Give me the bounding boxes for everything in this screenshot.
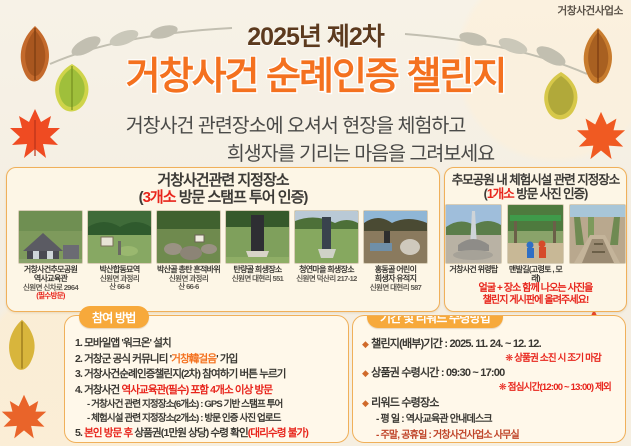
facility-panel-title: 추모공원 내 체험시설 관련 지정장소 (1개소 방문 사진 인증): [445, 168, 626, 201]
place-photo: [363, 210, 428, 264]
facility-name-text: 맨발길(고령토 , 모래): [509, 265, 562, 283]
place-name: 청연마을 희생장소 신원면 덕산리 217-12: [294, 266, 360, 283]
voucher-pickup-time-item: ◆상품권 수령시간 : 09:30 ~ 17:00: [362, 366, 619, 381]
facility-card[interactable]: [568, 204, 628, 284]
place-name: 박산합동묘역 신원면 과정리 산 66-8: [87, 266, 153, 292]
step-4-sub-1: - 거창사건 관련 지정장소(6개소) : GPS 기반 스탬프 투어: [75, 398, 342, 412]
place-name-text: 박산합동묘역: [100, 265, 140, 274]
period-and-reward-pill: 기간 및 리워드 수령방법: [367, 315, 503, 328]
voucher-pickup-time-note: ❋ 점심시간(12:00 ~ 13:00) 제외: [362, 382, 619, 395]
voucher-pickup-time-value: 09:30 ~ 17:00: [446, 367, 504, 379]
poster-root: 거창사건사업소 2025년 제2차 거창사건 순례인증 챌린지 거창사건 관련장…: [0, 0, 631, 446]
step-5-highlight-1: 본인 방문 후: [84, 427, 132, 439]
how-to-participate-box: 참여 방법 1. 모바일앱 '워크온' 설치 2. 거창군 공식 커뮤니티 '거…: [64, 315, 349, 443]
step-1: 1. 모바일앱 '워크온' 설치: [75, 336, 342, 352]
step-2-post: ' 가입: [216, 353, 237, 365]
designated-places-title-line1: 거창사건관련 지정장소: [157, 172, 288, 189]
facility-count: 1개소: [487, 187, 514, 201]
step-4-pre: 4. 거창사건: [75, 384, 121, 396]
place-photo: [156, 210, 221, 264]
diamond-bullet-icon: ◆: [362, 398, 368, 408]
how-to-participate-pill: 참여 방법: [79, 306, 149, 328]
facility-name: 맨발길(고령토 , 모래): [506, 266, 566, 284]
place-name-text: 거창사건추모공원 역사교육관: [24, 265, 77, 283]
facility-photo: [507, 204, 564, 264]
reward-location-label: 리워드 수령장소: [371, 397, 439, 409]
facility-name-text: 거창사건 위령탑: [449, 265, 497, 274]
community-name: 거창韓걸음: [171, 353, 216, 365]
step-3: 3. 거창사건순례인증챌린지(2차) 참여하기 버튼 누르기: [75, 367, 342, 383]
place-name-text: 탄량골 희생장소: [233, 265, 281, 274]
step-5-highlight-2: (대리수령 불가): [248, 427, 308, 439]
subtitle-line-1: 거창사건 관련장소에 오셔서 현장을 체험하고: [0, 109, 631, 138]
place-photo: [225, 210, 290, 264]
step-5-pre: 5.: [75, 427, 84, 439]
place-address: 신원면 대현리 551: [225, 275, 291, 283]
challenge-period-label: 챌린지(배부)기간 :: [371, 338, 449, 350]
reward-location-weekday: - 평 일 : 역사교육관 안내데스크: [362, 413, 619, 427]
subtitle-line-2: 희생자를 기리는 마음을 그려보세요: [0, 137, 631, 166]
place-address: 신원면 과정리 산 66-8: [87, 275, 153, 292]
step-4-sub-2: - 체험시설 관련 지정장소(2개소) : 방문 인증 사진 업로드: [75, 412, 342, 426]
facility-title-line2: (1개소 방문 사진 인증): [445, 187, 626, 201]
photo-upload-note-line1: 얼굴 + 장소 함께 나오는 사진을: [445, 283, 626, 295]
facility-photo: [445, 204, 502, 264]
place-card[interactable]: 거창사건추모공원 역사교육관 신원면 신차로 2964 (필수방문): [18, 210, 84, 301]
diamond-bullet-icon: ◆: [362, 368, 368, 378]
place-photo: [87, 210, 152, 264]
diamond-bullet-icon: ◆: [362, 339, 368, 349]
facility-photo: [569, 204, 626, 264]
designated-places-count: 3개소: [143, 189, 176, 206]
reward-location-weekend: - 주말, 공휴일 : 거창사건사업소 사무실: [362, 429, 619, 443]
facility-title-line1: 추모공원 내 체험시설 관련 지정장소: [452, 173, 619, 187]
designated-places-thumbnails: 거창사건추모공원 역사교육관 신원면 신차로 2964 (필수방문): [7, 210, 439, 301]
place-name-text: 홍동골 어린이 희생자 유적지: [375, 265, 416, 283]
place-photo: [18, 210, 83, 264]
facility-thumbnails: 거창사건 위령탑: [445, 204, 626, 284]
place-name: 탄량골 희생장소 신원면 대현리 551: [225, 266, 291, 283]
memorial-park-facility-panel: 추모공원 내 체험시설 관련 지정장소 (1개소 방문 사진 인증): [444, 167, 627, 312]
place-card[interactable]: 박산합동묘역 신원면 과정리 산 66-8: [87, 210, 153, 301]
place-card[interactable]: 박산골 총탄 흔적바위 신원면 과정리 산 66-6: [156, 210, 222, 301]
place-name: 홍동골 어린이 희생자 유적지 신원면 대현리 587: [363, 266, 429, 292]
place-card[interactable]: 홍동골 어린이 희생자 유적지 신원면 대현리 587: [363, 210, 429, 301]
how-to-participate-steps: 1. 모바일앱 '워크온' 설치 2. 거창군 공식 커뮤니티 '거창韓걸음' …: [75, 336, 342, 442]
place-card[interactable]: 탄량골 희생장소 신원면 대현리 551: [225, 210, 291, 301]
page-title: 거창사건 순례인증 챌린지: [0, 45, 631, 100]
facility-card[interactable]: 거창사건 위령탑: [444, 204, 504, 284]
challenge-period-value: 2025. 11. 24. ~ 12. 12.: [449, 338, 540, 350]
photo-upload-note-line2: 챌린지 게시판에 올려주세요!: [445, 295, 626, 307]
period-and-reward-items: ◆챌린지(배부)기간 : 2025. 11. 24. ~ 12. 12. ❋ 상…: [362, 337, 619, 442]
place-address: 신원면 과정리 산 66-6: [156, 275, 222, 292]
facility-card[interactable]: 맨발길(고령토 , 모래): [506, 204, 566, 284]
step-4: 4. 거창사건 역사교육관(필수) 포함 4개소 이상 방문: [75, 383, 342, 399]
photo-upload-note: 얼굴 + 장소 함께 나오는 사진을 챌린지 게시판에 올려주세요!: [445, 283, 626, 307]
maple-leaf-icon: [0, 392, 48, 442]
designated-places-title: 거창사건관련 지정장소 (3개소 방문 스탬프 투어 인증): [7, 168, 439, 207]
voucher-pickup-time-label: 상품권 수령시간 :: [371, 367, 446, 379]
challenge-period-item: ◆챌린지(배부)기간 : 2025. 11. 24. ~ 12. 12.: [362, 337, 619, 352]
designated-places-title-line2: (3개소 방문 스탬프 투어 인증): [7, 190, 439, 207]
place-photo: [294, 210, 359, 264]
place-name: 박산골 총탄 흔적바위 신원면 과정리 산 66-6: [156, 266, 222, 292]
autumn-leaf-icon: [2, 318, 42, 374]
org-tag: 거창사건사업소: [557, 3, 623, 18]
place-name-text: 박산골 총탄 흔적바위: [157, 265, 220, 274]
period-and-reward-box: 기간 및 리워드 수령방법 ◆챌린지(배부)기간 : 2025. 11. 24.…: [352, 315, 626, 443]
step-5: 5. 본인 방문 후 상품권(1만원 상당) 수령 확인(대리수령 불가): [75, 426, 342, 442]
place-address: 신원면 대현리 587: [363, 284, 429, 292]
step-2: 2. 거창군 공식 커뮤니티 '거창韓걸음' 가입: [75, 352, 342, 368]
step-2-pre: 2. 거창군 공식 커뮤니티 ': [75, 353, 171, 365]
facility-title-rest: 방문 사진 인증): [514, 187, 588, 201]
place-name: 거창사건추모공원 역사교육관 신원면 신차로 2964 (필수방문): [18, 266, 84, 301]
place-address: 신원면 덕산리 217-12: [294, 275, 360, 283]
place-name-text: 청연마을 희생장소: [299, 265, 354, 274]
designated-places-panel: 거창사건관련 지정장소 (3개소 방문 스탬프 투어 인증): [6, 167, 440, 312]
place-card[interactable]: 청연마을 희생장소 신원면 덕산리 217-12: [294, 210, 360, 301]
facility-name: 거창사건 위령탑: [444, 266, 504, 275]
reward-location-item: ◆리워드 수령장소: [362, 396, 619, 411]
step-5-mid: 상품권(1만원 상당) 수령 확인: [132, 427, 247, 439]
step-4-highlight: 역사교육관(필수) 포함 4개소 이상 방문: [121, 384, 272, 396]
challenge-period-note: ❋ 상품권 소진 시 조기 마감: [362, 353, 619, 366]
place-must-visit-badge: (필수방문): [18, 292, 84, 300]
designated-places-title-rest: 방문 스탬프 투어 인증): [176, 189, 308, 206]
